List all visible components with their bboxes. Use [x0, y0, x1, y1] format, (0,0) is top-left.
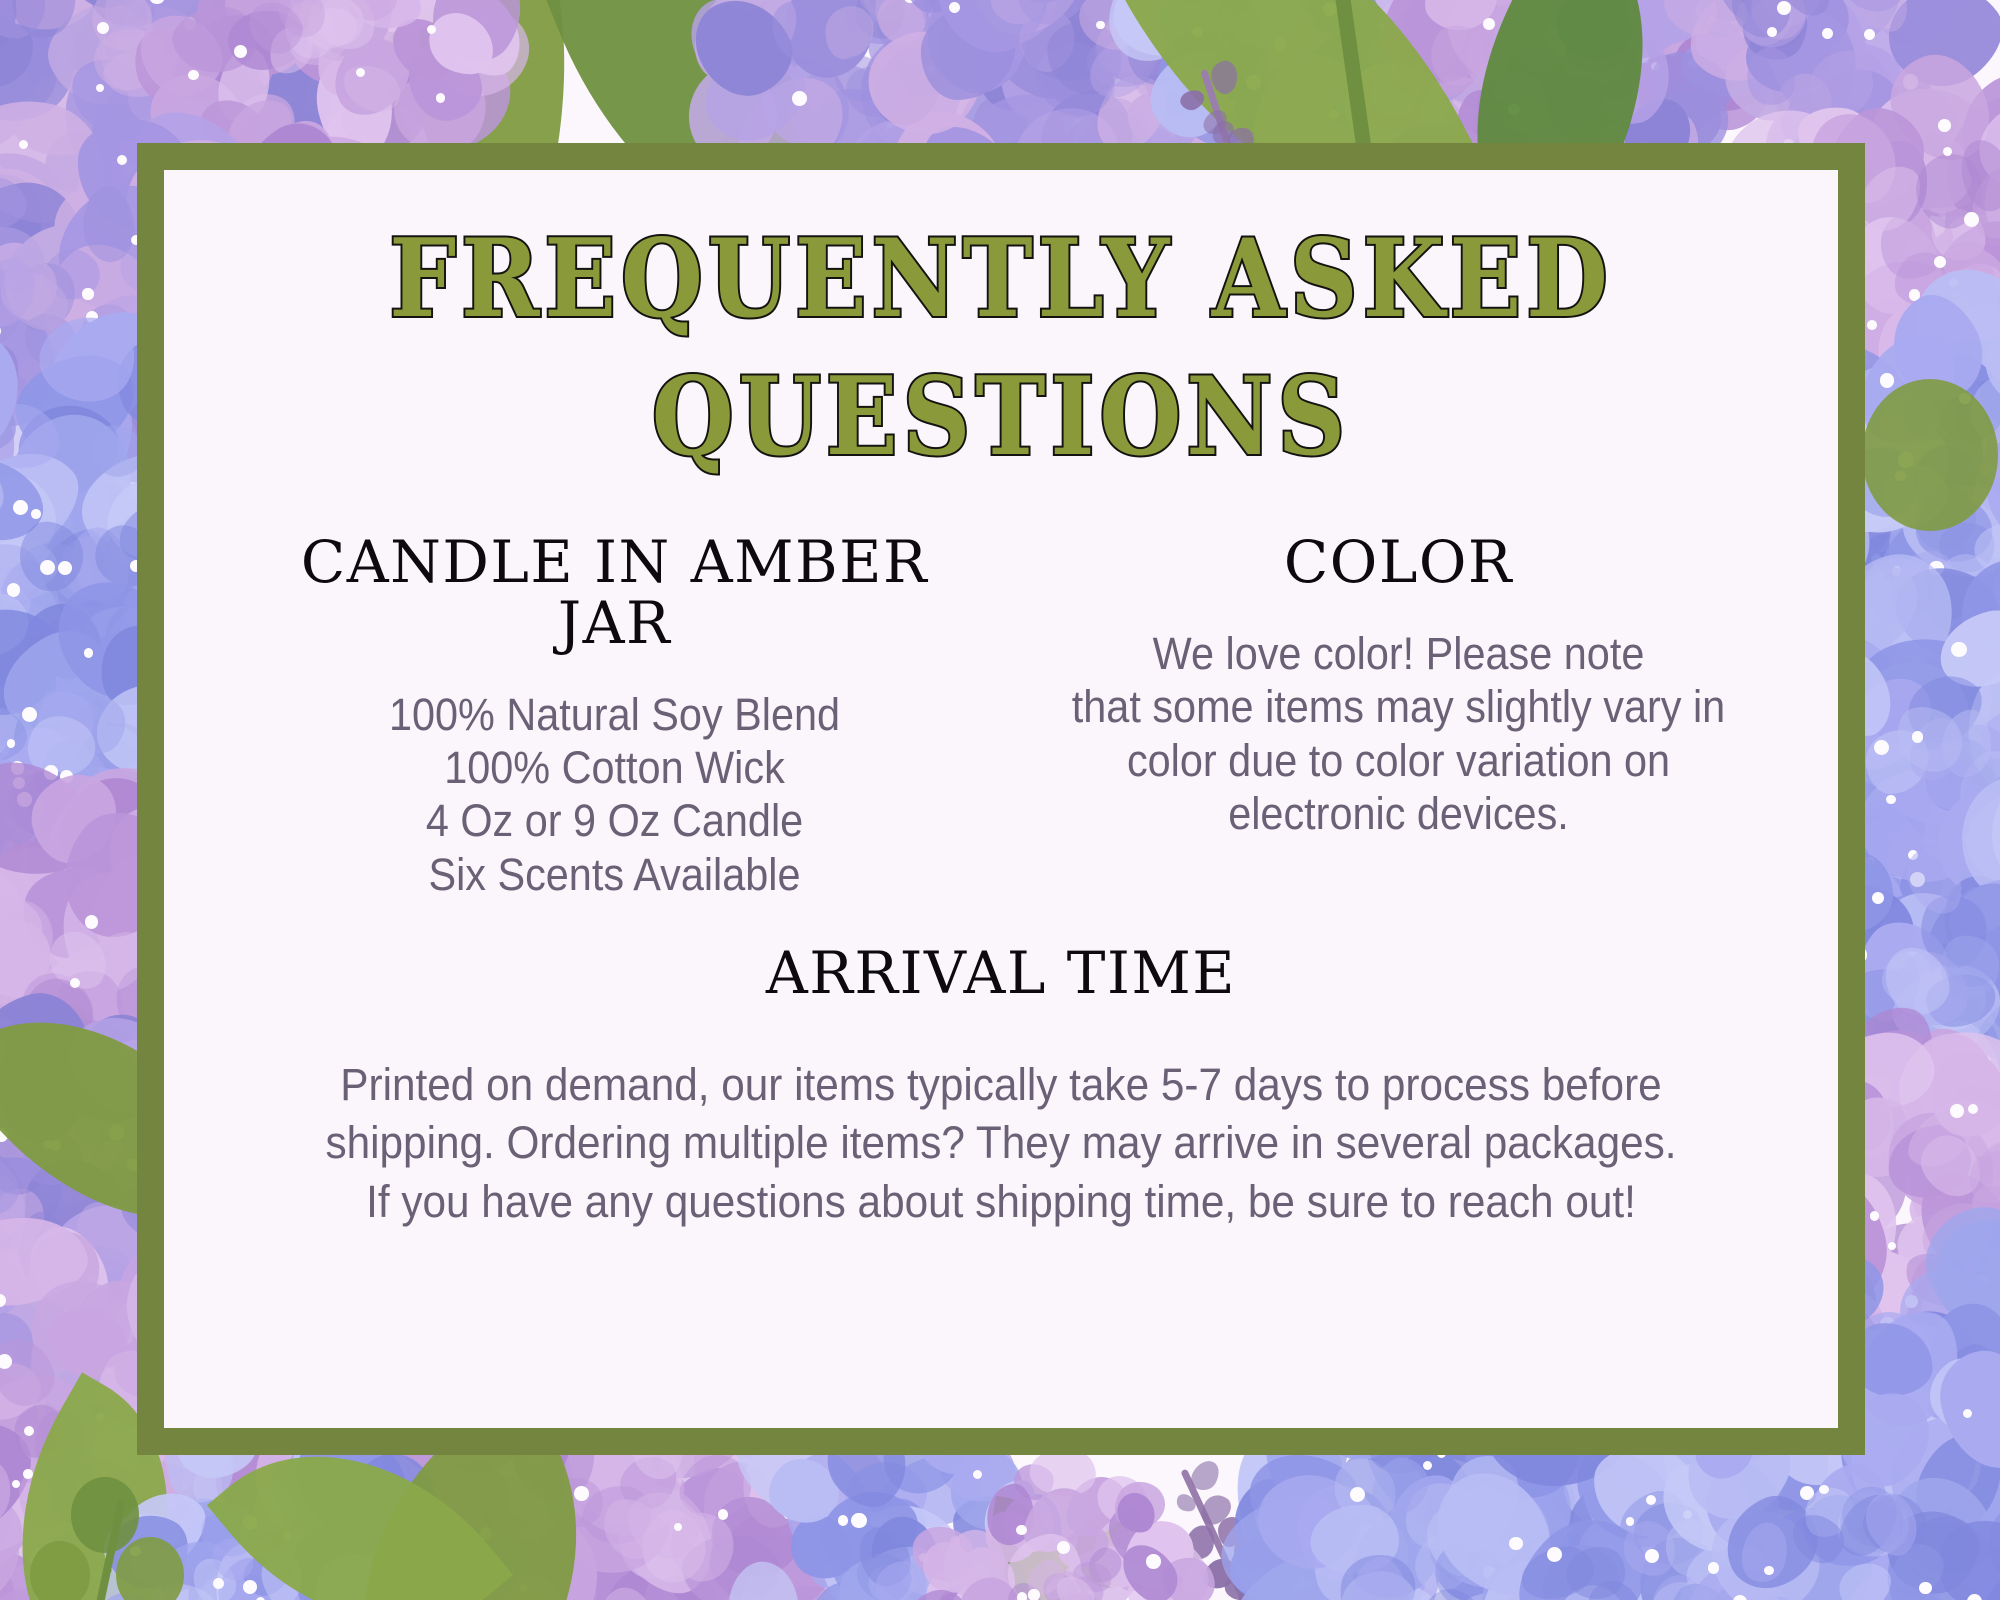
floret-center-dot: [1017, 1592, 1027, 1600]
floret-center-dot: [1938, 119, 1950, 131]
floret-center-dot: [1950, 1104, 1964, 1118]
section-heading-candle: CANDLE IN AMBER JAR: [240, 532, 989, 654]
floret-center-dot: [1819, 1485, 1828, 1494]
floret-center-dot: [949, 2, 960, 13]
section-body-candle: 100% Natural Soy Blend 100% Cotton Wick …: [270, 688, 959, 900]
section-color: COLOR We love color! Please note that so…: [1001, 532, 1762, 900]
floret-center-dot: [1934, 256, 1946, 268]
section-heading-arrival: ARRIVAL TIME: [240, 943, 1762, 1004]
floret-center-dot: [84, 648, 93, 657]
title-line-1: Frequently Asked: [241, 210, 1760, 348]
floret-center-dot: [973, 1470, 982, 1479]
poster-card: Frequently Asked Questions CANDLE IN AMB…: [164, 170, 1838, 1428]
floret-center-dot: [22, 707, 37, 722]
floret-center-dot: [1645, 1549, 1659, 1563]
floret-center-dot: [1919, 1582, 1932, 1595]
list-item: electronic devices.: [1064, 787, 1733, 840]
floret-center-dot: [851, 1513, 866, 1528]
floret-center-dot: [792, 91, 807, 106]
list-item: 100% Natural Soy Blend: [270, 688, 959, 741]
floret-center-dot: [1028, 1589, 1039, 1600]
floret-center-dot: [838, 1515, 848, 1525]
section-candle-in-amber-jar: CANDLE IN AMBER JAR 100% Natural Soy Ble…: [240, 532, 1001, 900]
floret-center-dot: [70, 978, 80, 988]
list-item: shipping. Ordering multiple items? They …: [286, 1114, 1717, 1173]
eucalyptus-leaf: [1862, 379, 1998, 531]
floret-center-dot: [1864, 29, 1875, 40]
floret-center-dot: [1870, 1211, 1880, 1221]
eucalyptus-leaf: [30, 1541, 90, 1600]
title-line-2: Questions: [241, 348, 1760, 486]
floret-center-dot: [82, 288, 93, 299]
list-item: that some items may slightly vary in: [1064, 680, 1733, 733]
floret-center-dot: [356, 68, 365, 77]
floret-center-dot: [58, 561, 72, 575]
eucalyptus-leaf: [71, 1477, 139, 1553]
list-item: Six Scents Available: [270, 848, 959, 901]
list-item: If you have any questions about shipping…: [286, 1173, 1717, 1232]
floret-center-dot: [85, 915, 99, 929]
floret-center-dot: [1146, 1554, 1161, 1569]
list-item: 4 Oz or 9 Oz Candle: [270, 794, 959, 847]
faq-poster: Frequently Asked Questions CANDLE IN AMB…: [0, 0, 2000, 1600]
page-title: Frequently Asked Questions: [218, 210, 1784, 486]
floret-center-dot: [1767, 27, 1777, 37]
floret-center-dot: [19, 140, 28, 149]
floret-center-dot: [1764, 1566, 1773, 1575]
floret-center-dot: [1943, 147, 1952, 156]
floret-center-dot: [436, 93, 446, 103]
section-heading-color: COLOR: [1035, 532, 1762, 593]
section-body-color: We love color! Please note that some ite…: [1064, 627, 1733, 839]
section-body-arrival: Printed on demand, our items typically t…: [286, 1056, 1717, 1232]
section-arrival-time: ARRIVAL TIME Printed on demand, our item…: [218, 943, 1784, 1231]
floret-center-dot: [97, 22, 109, 34]
list-item: Printed on demand, our items typically t…: [286, 1056, 1717, 1115]
floret-center-dot: [1016, 1525, 1027, 1536]
floret-center-dot: [1874, 740, 1889, 755]
floret-center-dot: [7, 739, 15, 747]
floret-center-dot: [0, 1354, 12, 1369]
floret-center-dot: [574, 1486, 589, 1501]
floret-center-dot: [1964, 212, 1979, 227]
list-item: color due to color variation on: [1064, 734, 1733, 787]
floret-center-dot: [1912, 731, 1923, 742]
floret-center-dot: [188, 70, 198, 80]
floret-center-dot: [1708, 1562, 1720, 1574]
poster-frame-border: Frequently Asked Questions CANDLE IN AMB…: [137, 143, 1865, 1455]
floret-center-dot: [96, 84, 104, 92]
floret-center-dot: [1880, 373, 1894, 387]
faq-columns: CANDLE IN AMBER JAR 100% Natural Soy Ble…: [218, 532, 1784, 900]
floret-center-dot: [24, 1426, 34, 1436]
floret-center-dot: [1626, 1517, 1634, 1525]
floret-center-dot: [12, 1480, 20, 1488]
list-item: 100% Cotton Wick: [270, 741, 959, 794]
floret-center-dot: [1867, 320, 1877, 330]
floret-center-dot: [243, 1580, 257, 1594]
floret-center-dot: [31, 509, 41, 519]
list-item: We love color! Please note: [1064, 627, 1733, 680]
floret-center-dot: [718, 1509, 729, 1520]
